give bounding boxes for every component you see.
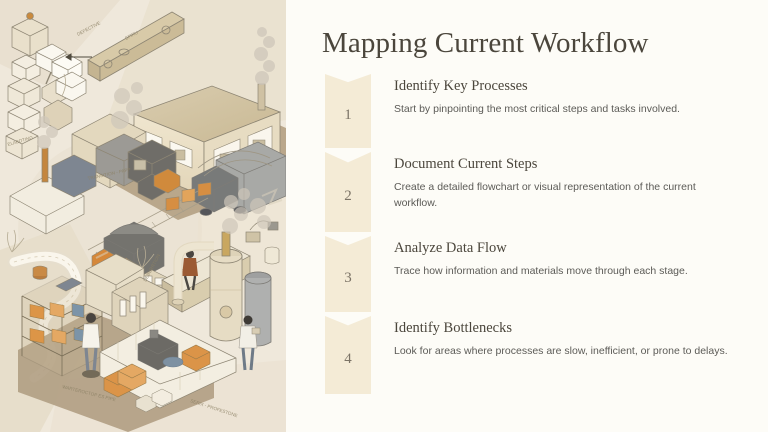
step-item-2[interactable]: 2 Document Current Steps Create a detail… [286, 152, 768, 236]
step-heading-2: Document Current Steps [394, 155, 742, 174]
step-item-3[interactable]: 3 Analyze Data Flow Trace how informatio… [286, 236, 768, 316]
step-text-4: Identify Bottlenecks Look for areas wher… [371, 316, 768, 360]
step-item-4[interactable]: 4 Identify Bottlenecks Look for areas wh… [286, 316, 768, 396]
step-number-banner-1: 1 [325, 74, 371, 148]
step-text-3: Analyze Data Flow Trace how information … [371, 236, 768, 280]
slide-root: DEFECTIVE SPIRU ELABOTING TRANSITION - P… [0, 0, 768, 432]
steps-list: 1 Identify Key Processes Start by pinpoi… [286, 74, 768, 396]
step-text-2: Document Current Steps Create a detailed… [371, 152, 768, 211]
step-item-1[interactable]: 1 Identify Key Processes Start by pinpoi… [286, 74, 768, 152]
factory-isometric-illustration: DEFECTIVE SPIRU ELABOTING TRANSITION - P… [0, 0, 286, 432]
step-number-1: 1 [344, 107, 352, 124]
page-title: Mapping Current Workflow [322, 26, 649, 60]
step-heading-4: Identify Bottlenecks [394, 319, 742, 338]
step-description-3: Trace how information and materials move… [394, 264, 734, 280]
step-number-banner-3: 3 [325, 236, 371, 312]
illustration-panel: DEFECTIVE SPIRU ELABOTING TRANSITION - P… [0, 0, 286, 432]
step-number-banner-4: 4 [325, 316, 371, 394]
step-number-4: 4 [344, 351, 352, 368]
step-number-2: 2 [344, 188, 352, 205]
step-number-banner-2: 2 [325, 152, 371, 232]
step-number-3: 3 [344, 270, 352, 287]
content-panel: Mapping Current Workflow 1 Identify Key … [286, 0, 768, 432]
step-description-4: Look for areas where processes are slow,… [394, 344, 734, 360]
step-heading-1: Identify Key Processes [394, 77, 742, 96]
step-heading-3: Analyze Data Flow [394, 239, 742, 258]
step-description-2: Create a detailed flowchart or visual re… [394, 180, 734, 211]
step-text-1: Identify Key Processes Start by pinpoint… [371, 74, 768, 118]
step-description-1: Start by pinpointing the most critical s… [394, 102, 734, 118]
